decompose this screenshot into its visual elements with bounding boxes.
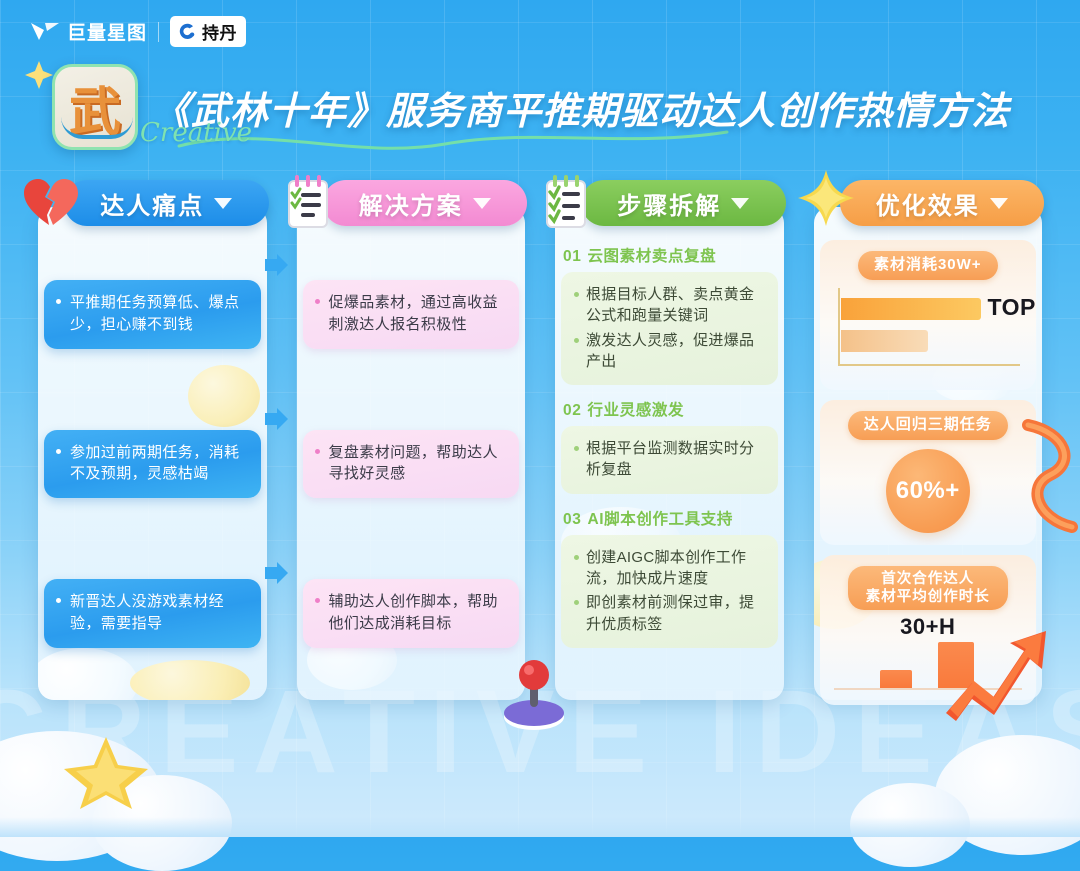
step-title-text: AI脚本创作工具支持 <box>587 511 733 528</box>
result-pill: 达人回归三期任务 <box>848 411 1008 440</box>
result-block-consumption[interactable]: 素材消耗30W+ TOP1 <box>820 240 1037 390</box>
step-item: 根据目标人群、卖点黄金公式和跑量关键词 <box>573 284 766 327</box>
xingtu-mark-icon <box>30 21 60 42</box>
creation-time-column-chart: 30+H <box>834 614 1023 690</box>
column-header-label: 优化效果 <box>876 186 980 221</box>
list-item: 平推期任务预算低、爆点少，担心赚不到钱 <box>44 240 261 389</box>
solution-card[interactable]: 复盘素材问题，帮助达人寻找好灵感 <box>303 430 520 499</box>
step-number: 03 <box>563 511 581 528</box>
creative-script-text: Creative <box>140 118 252 148</box>
chart-bar <box>841 298 981 320</box>
step-number: 01 <box>563 248 581 265</box>
cloud-decoration <box>935 735 1080 855</box>
result-block-creation-time[interactable]: 首次合作达人 素材平均创作时长 30+H <box>820 555 1037 705</box>
step-item: 根据平台监测数据实时分析复盘 <box>573 438 766 481</box>
step-item: 即创素材前测保过审，提升优质标签 <box>573 592 766 635</box>
step-list: 01云图素材卖点复盘 根据目标人群、卖点黄金公式和跑量关键词 激发达人灵感，促进… <box>547 240 792 688</box>
cloud-decoration <box>92 775 232 871</box>
solution-card-list: 促爆品素材，通过高收益刺激达人报名积极性 复盘素材问题，帮助达人寻找好灵感 辅助… <box>289 240 534 688</box>
step-block: 01云图素材卖点复盘 根据目标人群、卖点黄金公式和跑量关键词 激发达人灵感，促进… <box>561 240 778 385</box>
solution-card-text: 促爆品素材，通过高收益刺激达人报名积极性 <box>316 292 507 336</box>
pain-to-solution-arrows <box>263 180 293 700</box>
column-header-solution[interactable]: 解决方案 <box>323 180 528 226</box>
chart-bar <box>841 330 928 352</box>
step-title: 03AI脚本创作工具支持 <box>561 503 778 535</box>
step-title-text: 云图素材卖点复盘 <box>587 248 716 265</box>
chart-x-axis <box>838 364 1021 366</box>
bullet-icon <box>56 449 61 454</box>
step-item: 激发达人灵感，促进爆品产出 <box>573 330 766 373</box>
chart-annotation: TOP1 <box>988 294 1037 321</box>
column-header-steps[interactable]: 步骤拆解 <box>581 180 786 226</box>
bullet-icon <box>315 449 320 454</box>
game-app-icon: 武 <box>52 64 138 150</box>
caret-down-icon[interactable] <box>731 198 749 209</box>
pain-card[interactable]: 参加过前两期任务，消耗不及预期，灵感枯竭 <box>44 430 261 499</box>
pain-card-text: 新晋达人没游戏素材经验，需要指导 <box>57 591 248 635</box>
result-block-return-rate[interactable]: 达人回归三期任务 60%+ <box>820 400 1037 545</box>
partner-logo-text: 持丹 <box>202 19 237 44</box>
bullet-icon <box>315 299 320 304</box>
step-block: 02行业灵感激发 根据平台监测数据实时分析复盘 <box>561 394 778 494</box>
step-item: 创建AIGC脚本创作工作流，加快成片速度 <box>573 547 766 590</box>
list-item: 促爆品素材，通过高收益刺激达人报名积极性 <box>303 240 520 389</box>
column-pain-points: 达人痛点 平推期任务预算低、爆点少，担心赚不到钱 参加过前两期任务，消耗不及预期… <box>30 180 275 700</box>
bullet-icon <box>315 598 320 603</box>
step-title: 02行业灵感激发 <box>561 394 778 426</box>
column-header-label: 步骤拆解 <box>617 186 721 221</box>
chart-annotation: 30+H <box>900 614 955 640</box>
step-card[interactable]: 创建AIGC脚本创作工作流，加快成片速度 即创素材前测保过审，提升优质标签 <box>561 535 778 648</box>
partner-logo: 持丹 <box>170 16 246 47</box>
caret-down-icon[interactable] <box>990 198 1008 209</box>
column-steps: 步骤拆解 01云图素材卖点复盘 根据目标人群、卖点黄金公式和跑量关键词 激发 <box>547 180 792 700</box>
consumption-bar-chart: TOP1 <box>838 286 1021 372</box>
brand-bar: 巨量星图 持丹 <box>30 16 246 47</box>
sparkle-star-icon <box>22 58 56 92</box>
step-card[interactable]: 根据目标人群、卖点黄金公式和跑量关键词 激发达人灵感，促进爆品产出 <box>561 272 778 385</box>
chart-bar <box>938 642 974 688</box>
solution-card[interactable]: 辅助达人创作脚本，帮助他们达成消耗目标 <box>303 579 520 648</box>
chart-annotation: 60%+ <box>896 477 960 505</box>
yellow-star-prop-icon <box>58 731 154 811</box>
column-header-label: 达人痛点 <box>100 186 204 221</box>
result-pill-line2: 素材平均创作时长 <box>866 588 990 606</box>
result-pill: 素材消耗30W+ <box>858 251 998 280</box>
solution-card-text: 辅助达人创作脚本，帮助他们达成消耗目标 <box>316 591 507 635</box>
column-header-pain[interactable]: 达人痛点 <box>64 180 269 226</box>
pain-card[interactable]: 平推期任务预算低、爆点少，担心赚不到钱 <box>44 280 261 349</box>
xingtu-logo: 巨量星图 <box>30 18 147 45</box>
brand-divider <box>158 22 159 42</box>
column-header-label: 解决方案 <box>359 186 463 221</box>
result-pill-line1: 首次合作达人 <box>866 570 990 588</box>
list-item: 新晋达人没游戏素材经验，需要指导 <box>44 539 261 688</box>
cloud-decoration <box>850 783 970 867</box>
pain-card-text: 平推期任务预算低、爆点少，担心赚不到钱 <box>57 292 248 336</box>
chart-y-axis <box>838 288 840 366</box>
step-block: 03AI脚本创作工具支持 创建AIGC脚本创作工作流，加快成片速度 即创素材前测… <box>561 503 778 648</box>
step-number: 02 <box>563 402 581 419</box>
bullet-icon <box>56 598 61 603</box>
caret-down-icon[interactable] <box>214 198 232 209</box>
chart-bar <box>880 670 912 688</box>
list-item: 参加过前两期任务，消耗不及预期，灵感枯竭 <box>44 389 261 538</box>
column-solutions: 解决方案 促爆品素材，通过高收益刺激达人报名积极性 <box>289 180 534 700</box>
pain-card-text: 参加过前两期任务，消耗不及预期，灵感枯竭 <box>57 442 248 486</box>
cloud-decoration <box>0 731 162 861</box>
xingtu-logo-text: 巨量星图 <box>67 18 147 45</box>
caret-down-icon[interactable] <box>473 198 491 209</box>
column-results: 优化效果 素材消耗30W+ TOP1 达人回归三期任务 6 <box>806 180 1051 700</box>
chart-baseline <box>834 688 1023 690</box>
step-title: 01云图素材卖点复盘 <box>561 240 778 272</box>
list-item: 辅助达人创作脚本，帮助他们达成消耗目标 <box>303 539 520 688</box>
result-pill: 首次合作达人 素材平均创作时长 <box>848 566 1008 610</box>
step-title-text: 行业灵感激发 <box>587 402 684 419</box>
arrow-right-icon <box>263 252 289 278</box>
arrow-right-icon <box>263 406 289 432</box>
list-item: 复盘素材问题，帮助达人寻找好灵感 <box>303 389 520 538</box>
chidan-mark-icon <box>177 22 197 42</box>
game-icon-wave <box>61 117 133 139</box>
solution-card-text: 复盘素材问题，帮助达人寻找好灵感 <box>316 442 507 486</box>
page-title: 《武林十年》服务商平推期驱动达人创作热情方法 <box>152 80 1010 135</box>
solution-card[interactable]: 促爆品素材，通过高收益刺激达人报名积极性 <box>303 280 520 349</box>
result-block-list: 素材消耗30W+ TOP1 达人回归三期任务 60%+ 首次合作达人 <box>806 240 1051 688</box>
column-header-results[interactable]: 优化效果 <box>840 180 1045 226</box>
bottom-fade <box>0 817 1080 837</box>
pain-card[interactable]: 新晋达人没游戏素材经验，需要指导 <box>44 579 261 648</box>
pain-card-list: 平推期任务预算低、爆点少，担心赚不到钱 参加过前两期任务，消耗不及预期，灵感枯竭… <box>30 240 275 688</box>
return-rate-circle: 60%+ <box>886 449 970 533</box>
step-card[interactable]: 根据平台监测数据实时分析复盘 <box>561 426 778 494</box>
arrow-right-icon <box>263 560 289 586</box>
columns-container: 达人痛点 平推期任务预算低、爆点少，担心赚不到钱 参加过前两期任务，消耗不及预期… <box>30 180 1050 700</box>
